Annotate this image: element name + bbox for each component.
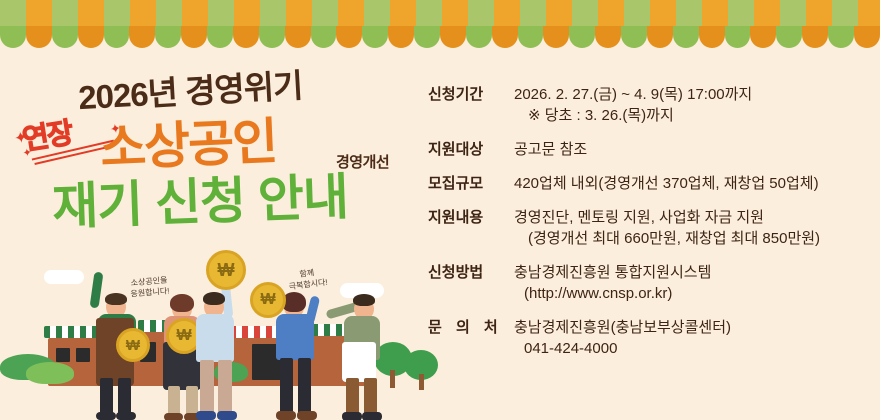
- awning-scallop: [647, 26, 673, 48]
- person-shoe: [96, 412, 116, 420]
- info-row-scale: 모집규모 420업체 내외(경영개선 370업체, 재창업 50업체): [428, 173, 872, 194]
- info-value: 420업체 내외(경영개선 370업체, 재창업 50업체): [514, 173, 872, 194]
- person-shoe: [116, 412, 136, 420]
- awning-scallop: [362, 26, 388, 48]
- info-value-line1: 420업체 내외(경영개선 370업체, 재창업 50업체): [514, 175, 819, 192]
- awning-scallop: [285, 26, 311, 48]
- info-value: 경영진단, 멘토링 지원, 사업화 자금 지원 (경영개선 최대 660만원, …: [514, 207, 872, 249]
- info-value-line1: 충남경제진흥원 통합지원시스템: [514, 264, 711, 281]
- info-value-line1: 충남경제진흥원(충남보부상콜센터): [514, 319, 731, 336]
- won-coin-icon: ₩: [206, 250, 246, 290]
- awning-scallop: [673, 26, 699, 48]
- info-label: 신청기간: [428, 84, 514, 105]
- info-label: 모집규모: [428, 173, 514, 194]
- info-label: 지원대상: [428, 139, 514, 160]
- person-shoe: [196, 411, 216, 420]
- awning-scallop: [233, 26, 259, 48]
- awning-scallop: [518, 26, 544, 48]
- awning-scallop: [207, 26, 233, 48]
- awning-scallop: [492, 26, 518, 48]
- awning-scallop: [802, 26, 828, 48]
- info-label: 신청방법: [428, 262, 514, 283]
- awning-scallop: [259, 26, 285, 48]
- poster-root: 2026년 경영위기 ✦ ✦ ✦ 연장 소상공인 경영개선 재기 신청 안내 신…: [0, 0, 880, 420]
- awning-scallop: [311, 26, 337, 48]
- info-row-support-content: 지원내용 경영진단, 멘토링 지원, 사업화 자금 지원 (경영개선 최대 66…: [428, 207, 872, 249]
- person-body: [196, 314, 234, 362]
- shop-window: [76, 348, 90, 362]
- title-block: 2026년 경영위기 ✦ ✦ ✦ 연장 소상공인 경영개선 재기 신청 안내: [0, 55, 420, 255]
- speech-text-right: 함께 극복합시다!: [287, 266, 328, 293]
- info-row-application-period: 신청기간 2026. 2. 27.(금) ~ 4. 9(목) 17:00까지 ※…: [428, 84, 872, 126]
- cloud-icon: [44, 270, 84, 284]
- person-leg: [280, 358, 293, 416]
- info-row-contact: 문 의 처 충남경제진흥원(충남보부상콜센터) 041-424-4000: [428, 317, 872, 359]
- tree-trunk: [390, 370, 395, 388]
- info-value-line1: 공고문 참조: [514, 141, 587, 158]
- person-hair: [105, 293, 127, 305]
- info-value: 2026. 2. 27.(금) ~ 4. 9(목) 17:00까지 ※ 당초 :…: [514, 84, 872, 126]
- awning-scallop: [104, 26, 130, 48]
- person-shoe: [342, 412, 362, 420]
- speech-left-line2: 응원합니다!: [130, 285, 170, 299]
- person-shoe: [217, 411, 237, 420]
- info-value-line1: 2026. 2. 27.(금) ~ 4. 9(목) 17:00까지: [514, 86, 752, 103]
- awning-scallop: [543, 26, 569, 48]
- awning-scallop: [595, 26, 621, 48]
- awning-scallop: [466, 26, 492, 48]
- shop-window: [56, 348, 70, 362]
- awning-scallop: [569, 26, 595, 48]
- info-value-phone: 041-424-4000: [514, 338, 872, 359]
- person-shoe: [297, 411, 317, 420]
- awning-scallop: [776, 26, 802, 48]
- person-hair: [203, 292, 225, 305]
- awning-scallop: [414, 26, 440, 48]
- awning-scallop: [181, 26, 207, 48]
- awning-scallop: [854, 26, 880, 48]
- awning-scallops: [0, 26, 880, 48]
- info-value-line2-url: (http://www.cnsp.or.kr): [514, 283, 872, 304]
- awning-scallop: [725, 26, 751, 48]
- bush-decoration: [26, 362, 74, 384]
- awning-scallop: [828, 26, 854, 48]
- sparkle-icon: ✦: [13, 130, 29, 148]
- info-value-line2: (경영개선 최대 660만원, 재창업 최대 850만원): [514, 228, 872, 249]
- awning-scallop: [78, 26, 104, 48]
- info-value: 공고문 참조: [514, 139, 872, 160]
- info-row-target: 지원대상 공고문 참조: [428, 139, 872, 160]
- info-label: 지원내용: [428, 207, 514, 228]
- info-label: 문 의 처: [428, 317, 514, 338]
- won-coin-icon: ₩: [116, 328, 150, 362]
- person-shoe: [276, 411, 296, 420]
- won-coin-icon: ₩: [250, 282, 286, 318]
- awning-scallop: [0, 26, 26, 48]
- person-shoe: [362, 412, 382, 420]
- info-value-line1: 경영진단, 멘토링 지원, 사업화 자금 지원: [514, 209, 764, 226]
- person-apron: [342, 342, 376, 382]
- person-hair: [353, 294, 375, 306]
- info-value-line2: ※ 당초 : 3. 26.(목)까지: [514, 105, 872, 126]
- person-leg: [298, 358, 311, 416]
- awning-scallop: [26, 26, 52, 48]
- person-leg: [218, 360, 232, 416]
- awning-scallop: [388, 26, 414, 48]
- info-value: 충남경제진흥원(충남보부상콜센터) 041-424-4000: [514, 317, 872, 359]
- extension-badge: ✦ ✦ ✦ 연장: [19, 109, 74, 158]
- tree-trunk: [419, 374, 424, 390]
- person-leg: [200, 360, 214, 416]
- illustration-scene: ₩ ₩ ₩: [0, 250, 440, 420]
- awning-decoration: [0, 0, 880, 48]
- awning-scallop: [621, 26, 647, 48]
- person-arm: [90, 272, 104, 309]
- awning-scallop: [155, 26, 181, 48]
- person-hair: [170, 294, 194, 312]
- info-value: 충남경제진흥원 통합지원시스템 (http://www.cnsp.or.kr): [514, 262, 872, 304]
- info-list: 신청기간 2026. 2. 27.(금) ~ 4. 9(목) 17:00까지 ※…: [428, 84, 872, 372]
- person-body: [276, 314, 314, 360]
- awning-scallop: [699, 26, 725, 48]
- title-green-line: 재기 신청 안내: [51, 157, 349, 239]
- awning-scallop: [129, 26, 155, 48]
- awning-scallop: [336, 26, 362, 48]
- person-shoe: [164, 413, 183, 420]
- awning-scallop: [750, 26, 776, 48]
- awning-scallop: [440, 26, 466, 48]
- awning-scallop: [52, 26, 78, 48]
- info-row-how-to-apply: 신청방법 충남경제진흥원 통합지원시스템 (http://www.cnsp.or…: [428, 262, 872, 304]
- speech-text-left: 소상공인을 응원합니다!: [129, 274, 170, 299]
